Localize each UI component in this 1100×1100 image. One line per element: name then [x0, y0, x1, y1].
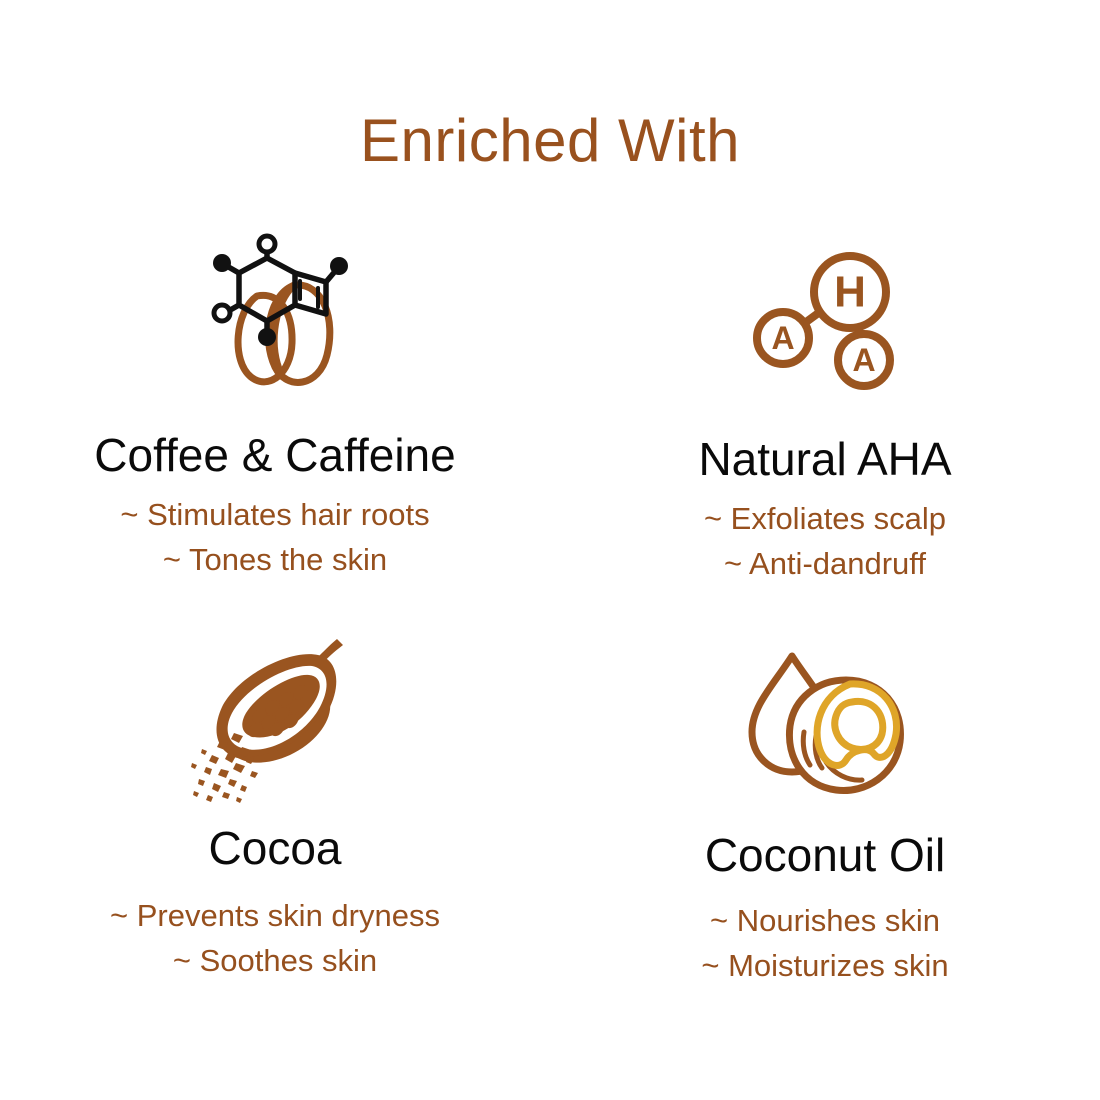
benefit-item: ~ Prevents skin dryness: [110, 894, 440, 939]
benefit-item: ~ Exfoliates scalp: [704, 497, 946, 542]
coconut-oil-droplet-icon: [740, 645, 910, 805]
aha-label-a-left: A: [771, 320, 794, 356]
aha-label-h: H: [834, 267, 866, 316]
enriched-with-infographic: Enriched With: [0, 0, 1100, 1100]
benefits-list: ~ Prevents skin dryness ~ Soothes skin: [110, 894, 440, 984]
ingredient-name: Coconut Oil: [705, 831, 945, 879]
ingredient-card-coffee: Coffee & Caffeine ~ Stimulates hair root…: [0, 230, 550, 635]
benefit-item: ~ Stimulates hair roots: [120, 493, 429, 538]
ingredient-name: Coffee & Caffeine: [94, 431, 455, 479]
benefits-list: ~ Exfoliates scalp ~ Anti-dandruff: [704, 497, 946, 587]
benefit-item: ~ Tones the skin: [120, 538, 429, 583]
ingredient-card-coconut: Coconut Oil ~ Nourishes skin ~ Moisturiz…: [550, 635, 1100, 1040]
benefits-list: ~ Nourishes skin ~ Moisturizes skin: [701, 899, 948, 989]
caffeine-molecule-coffee-bean-icon: [195, 238, 355, 393]
benefit-item: ~ Anti-dandruff: [704, 542, 946, 587]
benefit-item: ~ Soothes skin: [110, 939, 440, 984]
ingredient-card-aha: H A A Natural AHA ~ Exfoliates scalp ~ A…: [550, 230, 1100, 635]
page-title: Enriched With: [0, 108, 1100, 174]
ingredient-card-cocoa: Cocoa ~ Prevents skin dryness ~ Soothes …: [0, 635, 550, 1040]
benefit-item: ~ Nourishes skin: [701, 899, 948, 944]
coffee-icon-svg: [195, 241, 355, 391]
benefits-list: ~ Stimulates hair roots ~ Tones the skin: [120, 493, 429, 583]
cocoa-pod-powder-icon: [190, 637, 360, 802]
aha-icon-svg: H A A: [750, 250, 900, 390]
cocoa-icon-svg: [190, 637, 360, 802]
aha-molecule-icon: H A A: [750, 242, 900, 397]
benefit-item: ~ Moisturizes skin: [701, 944, 948, 989]
ingredient-name: Natural AHA: [698, 435, 951, 483]
aha-label-a-bottom: A: [852, 342, 875, 378]
coconut-icon-svg: [740, 650, 910, 800]
ingredient-name: Cocoa: [209, 824, 342, 872]
ingredients-grid: Coffee & Caffeine ~ Stimulates hair root…: [0, 230, 1100, 1040]
